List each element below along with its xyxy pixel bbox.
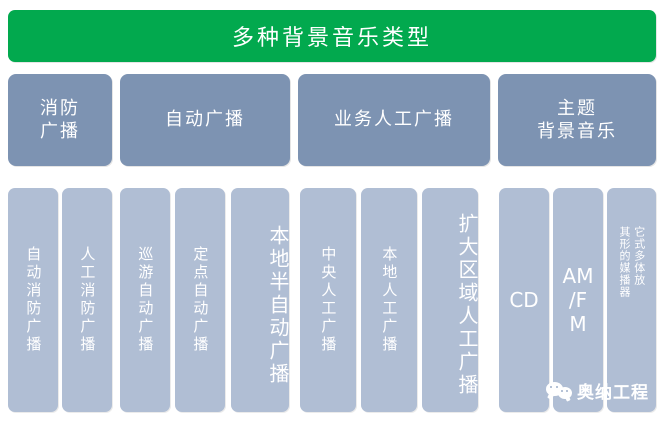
category-label: 消防 广播 (40, 97, 80, 143)
leaf-label: 本地半自动广播 (231, 198, 289, 412)
category-box-theme-background-music: 主题 背景音乐 (498, 74, 656, 166)
leaf-label: 中央人工广播 (300, 188, 356, 412)
leaf-label: 巡游自动广播 (120, 188, 170, 412)
diagram-canvas: 多种背景音乐类型 消防 广播 自动广播 业务人工广播 主题 背景音乐 自动消防广… (0, 0, 664, 422)
leaf-box-other-multimedia-players: 它式多体放 其形的媒播器 (607, 188, 656, 412)
category-label: 自动广播 (165, 108, 245, 131)
leaf-box-cd: CD (499, 188, 549, 412)
leaf-label: CD (499, 188, 549, 412)
leaf-label: 本地人工广播 (361, 188, 417, 412)
category-box-auto-broadcast: 自动广播 (120, 74, 290, 166)
leaf-box-auto-fire-broadcast: 自动消防广播 (8, 188, 58, 412)
leaf-label: 定点自动广播 (175, 188, 225, 412)
leaf-label-column-left: 其形的媒播器 (617, 226, 631, 298)
leaf-label: AM /F M (553, 188, 603, 412)
leaf-box-extended-zone-manual-broadcast: 扩大区域人工广播 (422, 188, 478, 412)
leaf-label: 自动消防广播 (8, 188, 58, 412)
page-title: 多种背景音乐类型 (232, 20, 432, 52)
leaf-box-local-semi-auto-broadcast: 本地半自动广播 (231, 188, 289, 412)
category-box-manual-business-broadcast: 业务人工广播 (298, 74, 490, 166)
category-label: 主题 背景音乐 (537, 97, 617, 143)
diagram-title-banner: 多种背景音乐类型 (8, 10, 656, 62)
leaf-box-am-fm: AM /F M (553, 188, 603, 412)
leaf-box-manual-fire-broadcast: 人工消防广播 (62, 188, 112, 412)
leaf-box-fixed-point-auto-broadcast: 定点自动广播 (175, 188, 225, 412)
category-box-fire-broadcast: 消防 广播 (8, 74, 112, 166)
leaf-box-patrol-auto-broadcast: 巡游自动广播 (120, 188, 170, 412)
leaf-label: 它式多体放 其形的媒播器 (607, 226, 656, 298)
leaf-label: 扩大区域人工广播 (422, 198, 478, 412)
leaf-label: 人工消防广播 (62, 188, 112, 412)
category-label: 业务人工广播 (334, 108, 454, 131)
leaf-label-column-right: 它式多体放 (632, 226, 646, 298)
leaf-box-central-manual-broadcast: 中央人工广播 (300, 188, 356, 412)
leaf-box-local-manual-broadcast: 本地人工广播 (361, 188, 417, 412)
